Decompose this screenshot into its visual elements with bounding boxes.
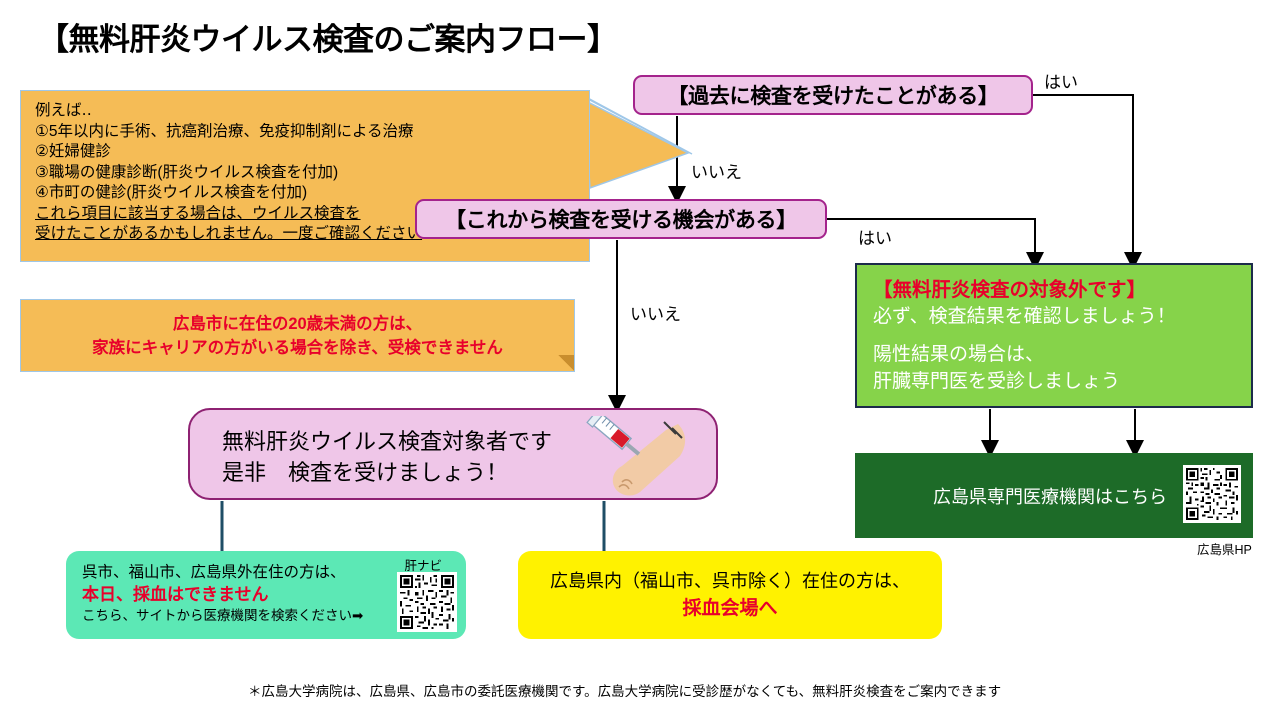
eligible-line-1: 無料肝炎ウイルス検査対象者です bbox=[222, 426, 552, 457]
out-of-area-text: 呉市、福山市、広島県外在住の方は、 本日、採血はできません こちら、サイトから医… bbox=[82, 562, 363, 626]
out-of-area-line-2: 本日、採血はできません bbox=[82, 583, 363, 606]
in-prefecture-box[interactable]: 広島県内（福山市、呉市除く）在住の方は、 採血会場へ bbox=[518, 551, 942, 639]
decision-future-test-label: 【これから検査を受ける機会がある】 bbox=[445, 204, 797, 234]
not-eligible-line-2: 陽性結果の場合は、 bbox=[873, 341, 1251, 368]
example-line-2: ②妊婦健診 bbox=[35, 142, 589, 163]
spacer bbox=[873, 330, 1251, 341]
example-line-3: ③職場の健康診断(肝炎ウイルス検査を付加) bbox=[35, 163, 589, 184]
under-20-note-line-0: 広島市に在住の20歳未満の方は、 bbox=[173, 312, 422, 336]
in-prefecture-line-1: 広島県内（福山市、呉市除く）在住の方は、 bbox=[550, 568, 910, 595]
under-20-note: 広島市に在住の20歳未満の方は、 家族にキャリアの方がいる場合を除き、受検できま… bbox=[20, 299, 575, 372]
referral-label: 広島県専門医療機関はこちら bbox=[933, 483, 1167, 509]
under-20-note-line-1: 家族にキャリアの方がいる場合を除き、受検できません bbox=[92, 336, 503, 360]
decision-future-test[interactable]: 【これから検査を受ける機会がある】 bbox=[415, 199, 827, 239]
referral-box[interactable]: 広島県専門医療機関はこちら bbox=[855, 453, 1253, 538]
result-eligible: 無料肝炎ウイルス検査対象者です 是非 検査を受けましょう！ bbox=[188, 408, 718, 500]
edge-label-yes-1: はい bbox=[1044, 68, 1078, 93]
example-line-0: 例えば‥ bbox=[35, 101, 589, 122]
syringe-arm-icon bbox=[582, 416, 700, 498]
not-eligible-line-3: 肝臓専門医を受診しましょう bbox=[873, 368, 1251, 395]
edge-label-no-2: いいえ bbox=[630, 300, 681, 325]
page-fold-corner bbox=[558, 355, 574, 371]
flowchart-canvas: 【無料肝炎ウイルス検査のご案内フロー】 例えば‥ ①5年以内に手術、抗癌剤治療、… bbox=[0, 0, 1280, 720]
wire-dec1-yes bbox=[1033, 95, 1133, 261]
decision-past-test[interactable]: 【過去に検査を受けたことがある】 bbox=[633, 75, 1033, 115]
qr-code-icon[interactable] bbox=[1183, 465, 1241, 523]
in-prefecture-line-2: 採血会場へ bbox=[682, 595, 777, 622]
edge-label-no-1: いいえ bbox=[691, 158, 742, 183]
not-eligible-header: 【無料肝炎検査の対象外です】 bbox=[873, 277, 1251, 303]
eligible-text: 無料肝炎ウイルス検査対象者です 是非 検査を受けましょう！ bbox=[222, 426, 552, 488]
not-eligible-line-1: 必ず、検査結果を確認しましょう！ bbox=[873, 303, 1251, 330]
out-of-area-line-1: 呉市、福山市、広島県外在住の方は、 bbox=[82, 562, 363, 583]
example-line-1: ①5年以内に手術、抗癌剤治療、免疫抑制剤による治療 bbox=[35, 122, 589, 143]
result-not-eligible: 【無料肝炎検査の対象外です】 必ず、検査結果を確認しましょう！ 陽性結果の場合は… bbox=[855, 263, 1253, 408]
out-of-area-line-3: こちら、サイトから医療機関を検索ください➡ bbox=[82, 606, 363, 626]
out-of-area-box[interactable]: 呉市、福山市、広島県外在住の方は、 本日、採血はできません こちら、サイトから医… bbox=[66, 551, 466, 639]
edge-label-yes-2: はい bbox=[858, 224, 892, 249]
decision-past-test-label: 【過去に検査を受けたことがある】 bbox=[667, 80, 998, 110]
qr-code-icon[interactable] bbox=[397, 572, 457, 632]
eligible-line-2: 是非 検査を受けましょう！ bbox=[222, 457, 552, 488]
